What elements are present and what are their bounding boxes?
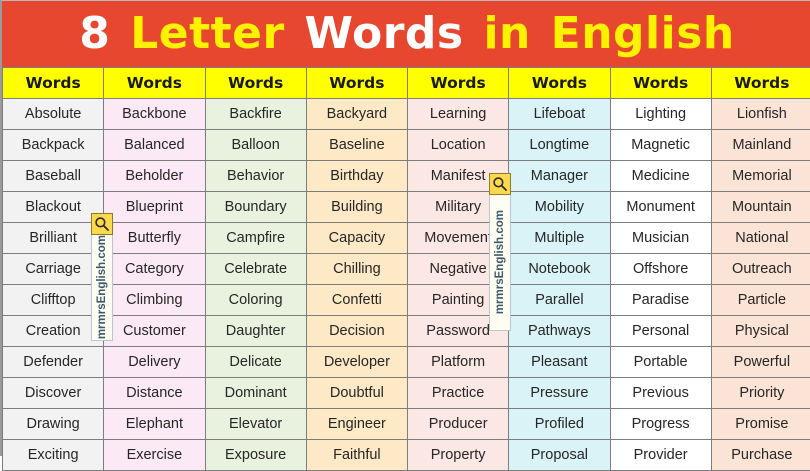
word-cell: Multiple	[509, 223, 610, 254]
column-header-6: Words	[509, 68, 610, 99]
word-cell: Negative	[408, 254, 509, 285]
word-cell: Coloring	[205, 285, 306, 316]
title-word-2: Words	[303, 8, 466, 59]
word-cell: Painting	[408, 285, 509, 316]
word-cell: Location	[408, 130, 509, 161]
word-cell: Pathways	[509, 316, 610, 347]
word-cell: Baseball	[3, 161, 104, 192]
table-row: BackpackBalancedBalloonBaselineLocationL…	[3, 130, 810, 161]
word-cell: Movement	[408, 223, 509, 254]
word-cell: Celebrate	[205, 254, 306, 285]
word-cell: Brilliant	[3, 223, 104, 254]
word-cell: Baseline	[306, 130, 407, 161]
word-cell: Dominant	[205, 378, 306, 409]
word-cell: Chilling	[306, 254, 407, 285]
words-table-container: Words Words Words Words Words Words Word…	[2, 67, 810, 457]
word-cell: Producer	[408, 409, 509, 440]
word-cell: Category	[104, 254, 205, 285]
word-cell: Proposal	[509, 440, 610, 471]
word-cell: Backpack	[3, 130, 104, 161]
word-cell: Purchase	[711, 440, 810, 471]
word-cell: Parallel	[509, 285, 610, 316]
page-title: 8 Letter Words in English	[77, 12, 736, 56]
page-root: 8 Letter Words in English Words Words Wo…	[0, 0, 810, 456]
word-cell: Developer	[306, 347, 407, 378]
word-cell: Butterfly	[104, 223, 205, 254]
word-cell: Priority	[711, 378, 810, 409]
table-header-row: Words Words Words Words Words Words Word…	[3, 68, 810, 99]
table-row: BrilliantButterflyCampfireCapacityMoveme…	[3, 223, 810, 254]
table-row: DrawingElephantElevatorEngineerProducerP…	[3, 409, 810, 440]
table-row: DefenderDeliveryDelicateDeveloperPlatfor…	[3, 347, 810, 378]
word-cell: Exciting	[3, 440, 104, 471]
word-cell: Blueprint	[104, 192, 205, 223]
word-cell: Exposure	[205, 440, 306, 471]
title-word-3: in	[481, 8, 532, 59]
column-header-4: Words	[306, 68, 407, 99]
word-cell: Learning	[408, 99, 509, 130]
word-cell: Mountain	[711, 192, 810, 223]
word-cell: Provider	[610, 440, 711, 471]
word-cell: Delivery	[104, 347, 205, 378]
word-cell: Backfire	[205, 99, 306, 130]
words-table-body: AbsoluteBackboneBackfireBackyardLearning…	[3, 99, 810, 471]
title-word-4: English	[549, 8, 737, 59]
word-cell: Clifftop	[3, 285, 104, 316]
word-cell: Portable	[610, 347, 711, 378]
word-cell: Creation	[3, 316, 104, 347]
word-cell: Elephant	[104, 409, 205, 440]
word-cell: Longtime	[509, 130, 610, 161]
word-cell: Manager	[509, 161, 610, 192]
word-cell: National	[711, 223, 810, 254]
words-table: Words Words Words Words Words Words Word…	[2, 67, 810, 471]
word-cell: Beholder	[104, 161, 205, 192]
word-cell: Manifest	[408, 161, 509, 192]
word-cell: Memorial	[711, 161, 810, 192]
word-cell: Magnetic	[610, 130, 711, 161]
word-cell: Delicate	[205, 347, 306, 378]
word-cell: Building	[306, 192, 407, 223]
word-cell: Particle	[711, 285, 810, 316]
word-cell: Daughter	[205, 316, 306, 347]
column-header-7: Words	[610, 68, 711, 99]
word-cell: Balloon	[205, 130, 306, 161]
title-banner: 8 Letter Words in English	[2, 1, 810, 67]
word-cell: Paradise	[610, 285, 711, 316]
table-row: ExcitingExerciseExposureFaithfulProperty…	[3, 440, 810, 471]
word-cell: Mainland	[711, 130, 810, 161]
word-cell: Practice	[408, 378, 509, 409]
word-cell: Lifeboat	[509, 99, 610, 130]
word-cell: Backbone	[104, 99, 205, 130]
word-cell: Campfire	[205, 223, 306, 254]
word-cell: Climbing	[104, 285, 205, 316]
word-cell: Lionfish	[711, 99, 810, 130]
column-header-5: Words	[408, 68, 509, 99]
table-row: BlackoutBlueprintBoundaryBuildingMilitar…	[3, 192, 810, 223]
word-cell: Engineer	[306, 409, 407, 440]
word-cell: Powerful	[711, 347, 810, 378]
word-cell: Boundary	[205, 192, 306, 223]
word-cell: Outreach	[711, 254, 810, 285]
table-row: BaseballBeholderBehaviorBirthdayManifest…	[3, 161, 810, 192]
word-cell: Profiled	[509, 409, 610, 440]
word-cell: Balanced	[104, 130, 205, 161]
table-row: CarriageCategoryCelebrateChillingNegativ…	[3, 254, 810, 285]
word-cell: Behavior	[205, 161, 306, 192]
word-cell: Musician	[610, 223, 711, 254]
word-cell: Confetti	[306, 285, 407, 316]
table-row: AbsoluteBackboneBackfireBackyardLearning…	[3, 99, 810, 130]
word-cell: Discover	[3, 378, 104, 409]
word-cell: Progress	[610, 409, 711, 440]
column-header-8: Words	[711, 68, 810, 99]
table-row: ClifftopClimbingColoringConfettiPainting…	[3, 285, 810, 316]
word-cell: Property	[408, 440, 509, 471]
word-cell: Mobility	[509, 192, 610, 223]
word-cell: Lighting	[610, 99, 711, 130]
word-cell: Platform	[408, 347, 509, 378]
word-cell: Pleasant	[509, 347, 610, 378]
word-cell: Defender	[3, 347, 104, 378]
word-cell: Distance	[104, 378, 205, 409]
word-cell: Customer	[104, 316, 205, 347]
column-header-2: Words	[104, 68, 205, 99]
word-cell: Military	[408, 192, 509, 223]
table-row: DiscoverDistanceDominantDoubtfulPractice…	[3, 378, 810, 409]
word-cell: Absolute	[3, 99, 104, 130]
word-cell: Elevator	[205, 409, 306, 440]
word-cell: Birthday	[306, 161, 407, 192]
word-cell: Promise	[711, 409, 810, 440]
word-cell: Monument	[610, 192, 711, 223]
column-header-3: Words	[205, 68, 306, 99]
word-cell: Backyard	[306, 99, 407, 130]
title-word-0: 8	[77, 8, 112, 59]
word-cell: Decision	[306, 316, 407, 347]
column-header-1: Words	[3, 68, 104, 99]
word-cell: Physical	[711, 316, 810, 347]
table-row: CreationCustomerDaughterDecisionPassword…	[3, 316, 810, 347]
word-cell: Capacity	[306, 223, 407, 254]
word-cell: Pressure	[509, 378, 610, 409]
word-cell: Previous	[610, 378, 711, 409]
word-cell: Notebook	[509, 254, 610, 285]
word-cell: Password	[408, 316, 509, 347]
word-cell: Offshore	[610, 254, 711, 285]
word-cell: Personal	[610, 316, 711, 347]
title-word-1: Letter	[128, 8, 287, 59]
word-cell: Blackout	[3, 192, 104, 223]
word-cell: Medicine	[610, 161, 711, 192]
word-cell: Drawing	[3, 409, 104, 440]
word-cell: Doubtful	[306, 378, 407, 409]
word-cell: Carriage	[3, 254, 104, 285]
word-cell: Exercise	[104, 440, 205, 471]
word-cell: Faithful	[306, 440, 407, 471]
